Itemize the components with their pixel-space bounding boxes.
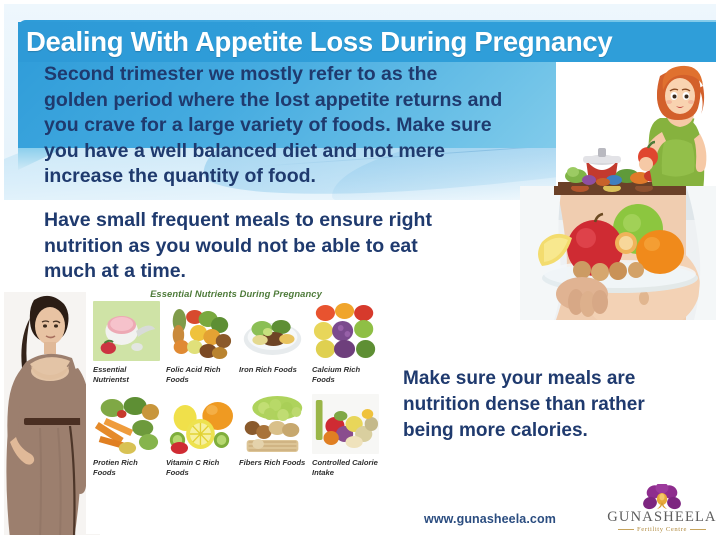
paragraph-two-line-1: Have small frequent meals to ensure righ… <box>44 208 514 234</box>
chart-item-folic-acid: Folic Acid Rich Foods <box>163 299 236 384</box>
carrot-veg-saute-photo <box>93 394 160 454</box>
chart-row-one: Essential Nutrientst <box>86 299 386 384</box>
mixed-vegetables-photo <box>166 301 233 361</box>
paragraph-two-line-2: nutrition as you would not be able to ea… <box>44 234 514 260</box>
chart-item-controlled-calories: Controlled Calorie Intake <box>309 392 382 477</box>
chart-item-label: Iron Rich Foods <box>239 365 306 375</box>
logo-rule-left <box>618 529 634 530</box>
chart-item-label: Fibers Rich Foods <box>239 458 306 468</box>
essential-nutrients-chart: Essential Nutrients During Pregnancy <box>86 286 386 534</box>
chart-item-calcium-rich: Calcium Rich Foods <box>309 299 382 384</box>
chart-item-label: Vitamin C Rich Foods <box>166 458 233 477</box>
logo-brand-name: GUNASHEELA <box>607 510 716 525</box>
fruit-plate-photo <box>520 186 720 320</box>
paragraph-three-line-3: being more calories. <box>403 418 703 444</box>
chart-item-label: Folic Acid Rich Foods <box>166 365 233 384</box>
smoothie-strawberry-photo <box>93 301 160 361</box>
chart-item-label: Controlled Calorie Intake <box>312 458 379 477</box>
assorted-fruit-photo <box>312 301 379 361</box>
gunasheela-logo: GUNASHEELA Fertility Centre <box>608 482 716 535</box>
logo-rule-right <box>690 529 706 530</box>
page-title: Dealing With Appetite Loss During Pregna… <box>26 24 716 60</box>
paragraph-two-line-3: much at a time. <box>44 259 514 285</box>
chart-item-protein-rich: Protien Rich Foods <box>90 392 163 477</box>
paragraph-three-line-1: Make sure your meals are <box>403 366 703 392</box>
pregnant-woman-cartoon-image <box>556 56 720 202</box>
paragraph-two: Have small frequent meals to ensure righ… <box>44 208 514 285</box>
paragraph-one-line-4: you have a well balanced diet and not me… <box>44 139 564 165</box>
pregnant-woman-photo <box>0 292 100 539</box>
chart-item-essential-nutrients: Essential Nutrientst <box>90 299 163 384</box>
portioned-produce-photo <box>312 394 379 454</box>
paragraph-one-line-2: golden period where the lost appetite re… <box>44 88 564 114</box>
plated-meat-salad-photo <box>239 301 306 361</box>
paragraph-one-line-1: Second trimester we mostly refer to as t… <box>44 62 564 88</box>
citrus-lemon-orange-photo <box>166 394 233 454</box>
grapes-nuts-grains-photo <box>239 394 306 454</box>
paragraph-three-line-2: nutrition dense than rather <box>403 392 703 418</box>
website-url[interactable]: www.gunasheela.com <box>424 512 556 526</box>
chart-item-iron-rich: Iron Rich Foods <box>236 299 309 384</box>
chart-title: Essential Nutrients During Pregnancy <box>86 286 386 299</box>
chart-item-label: Essential Nutrientst <box>93 365 160 384</box>
chart-item-label: Calcium Rich Foods <box>312 365 379 384</box>
chart-row-two: Protien Rich Foods <box>86 392 386 477</box>
chart-item-vitamin-c: Vitamin C Rich Foods <box>163 392 236 477</box>
logo-tagline: Fertility Centre <box>637 525 687 534</box>
chart-item-label: Protien Rich Foods <box>93 458 160 477</box>
flower-logo-icon <box>640 484 684 510</box>
paragraph-three: Make sure your meals are nutrition dense… <box>403 366 703 444</box>
slide: Dealing With Appetite Loss During Pregna… <box>0 0 720 539</box>
paragraph-one-line-5: increase the quantity of food. <box>44 164 564 190</box>
paragraph-one-line-3: you crave for a large variety of foods. … <box>44 113 564 139</box>
logo-tagline-row: Fertility Centre <box>618 525 706 534</box>
paragraph-one: Second trimester we mostly refer to as t… <box>44 62 564 190</box>
chart-item-fibers-rich: Fibers Rich Foods <box>236 392 309 477</box>
